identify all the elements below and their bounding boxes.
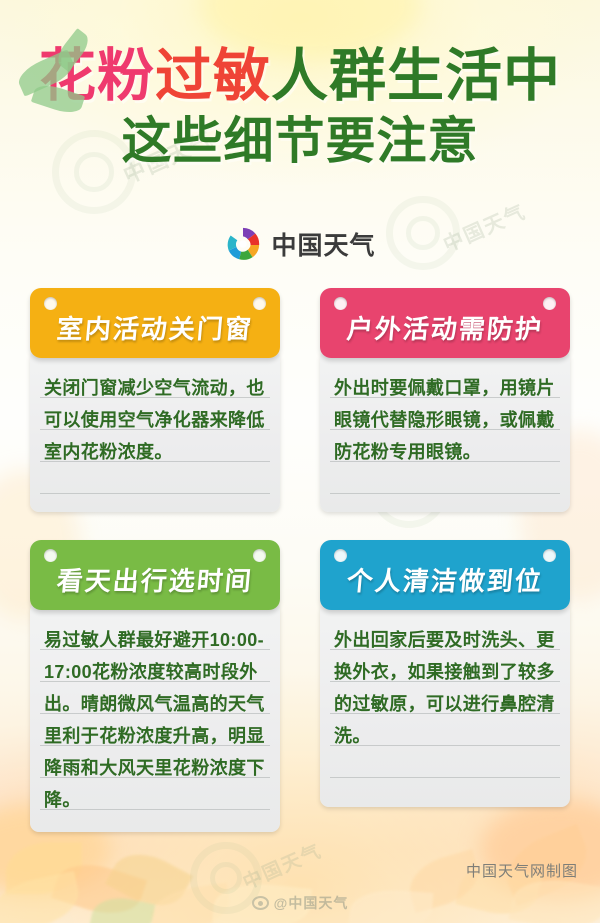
tip-card-body: 关闭门窗减少空气流动，也可以使用空气净化器来降低室内花粉浓度。 xyxy=(30,350,280,512)
weibo-handle-label: @中国天气 xyxy=(274,893,349,913)
punch-hole-left-icon xyxy=(44,549,57,562)
tip-card-header: 个人清洁做到位 xyxy=(320,540,570,610)
punch-hole-right-icon xyxy=(543,297,556,310)
title-line-1: 花粉过敏人群生活中 xyxy=(39,46,561,106)
tip-card-header-label: 看天出行选时间 xyxy=(55,561,254,598)
title-part-1: 过敏 xyxy=(155,44,271,108)
weibo-eye-icon xyxy=(252,896,269,910)
tip-card-outdoor: 户外活动需防护 外出时要佩戴口罩，用镜片眼镜代替隐形眼镜，或佩戴防花粉专用眼镜。 xyxy=(320,288,570,512)
title-part-2: 人群 xyxy=(271,44,387,108)
title-line-2: 这些细节要注意 xyxy=(0,115,600,168)
punch-hole-right-icon xyxy=(253,297,266,310)
brand-name: 中国天气 xyxy=(271,226,375,262)
tip-card-header-label: 室内活动关门窗 xyxy=(55,309,254,346)
tip-card-body: 易过敏人群最好避开10:00-17:00花粉浓度较高时段外出。晴朗微风气温高的天… xyxy=(30,602,280,832)
tip-card-indoor: 室内活动关门窗 关闭门窗减少空气流动，也可以使用空气净化器来降低室内花粉浓度。 xyxy=(30,288,280,512)
tip-card-body-text: 易过敏人群最好避开10:00-17:00花粉浓度较高时段外出。晴朗微风气温高的天… xyxy=(44,624,266,816)
tip-card-header: 户外活动需防护 xyxy=(320,288,570,358)
weibo-handle-row: @中国天气 xyxy=(0,893,600,913)
punch-hole-left-icon xyxy=(334,297,347,310)
punch-hole-right-icon xyxy=(543,549,556,562)
infographic-poster: 中国天气 中国天气 中国天气 中国天气 中国天气 中国天气 花粉过敏人群生活中 … xyxy=(0,0,600,923)
tip-card-header: 室内活动关门窗 xyxy=(30,288,280,358)
tip-card-header-label: 个人清洁做到位 xyxy=(345,561,544,598)
tip-card-body: 外出时要佩戴口罩，用镜片眼镜代替隐形眼镜，或佩戴防花粉专用眼镜。 xyxy=(320,350,570,512)
credit-label: 中国天气网制图 xyxy=(466,860,578,881)
punch-hole-left-icon xyxy=(44,297,57,310)
tip-card-body: 外出回家后要及时洗头、更换外衣，如果接触到了较多的过敏原，可以进行鼻腔清洗。 xyxy=(320,602,570,807)
tip-card-timing: 看天出行选时间 易过敏人群最好避开10:00-17:00花粉浓度较高时段外出。晴… xyxy=(30,540,280,832)
punch-hole-left-icon xyxy=(334,549,347,562)
punch-hole-right-icon xyxy=(253,549,266,562)
china-weather-swirl-logo-icon xyxy=(224,225,262,263)
tip-card-header: 看天出行选时间 xyxy=(30,540,280,610)
tip-card-body-text: 外出时要佩戴口罩，用镜片眼镜代替隐形眼镜，或佩戴防花粉专用眼镜。 xyxy=(334,372,556,468)
tips-card-grid: 室内活动关门窗 关闭门窗减少空气流动，也可以使用空气净化器来降低室内花粉浓度。 … xyxy=(30,288,570,832)
brand-row: 中国天气 xyxy=(0,225,600,263)
tip-card-body-text: 外出回家后要及时洗头、更换外衣，如果接触到了较多的过敏原，可以进行鼻腔清洗。 xyxy=(334,624,556,752)
poster-title: 花粉过敏人群生活中 这些细节要注意 xyxy=(0,46,600,168)
tip-card-body-text: 关闭门窗减少空气流动，也可以使用空气净化器来降低室内花粉浓度。 xyxy=(44,372,266,468)
title-part-3: 生活中 xyxy=(387,44,561,108)
tip-card-header-label: 户外活动需防护 xyxy=(345,309,544,346)
tip-card-hygiene: 个人清洁做到位 外出回家后要及时洗头、更换外衣，如果接触到了较多的过敏原，可以进… xyxy=(320,540,570,832)
